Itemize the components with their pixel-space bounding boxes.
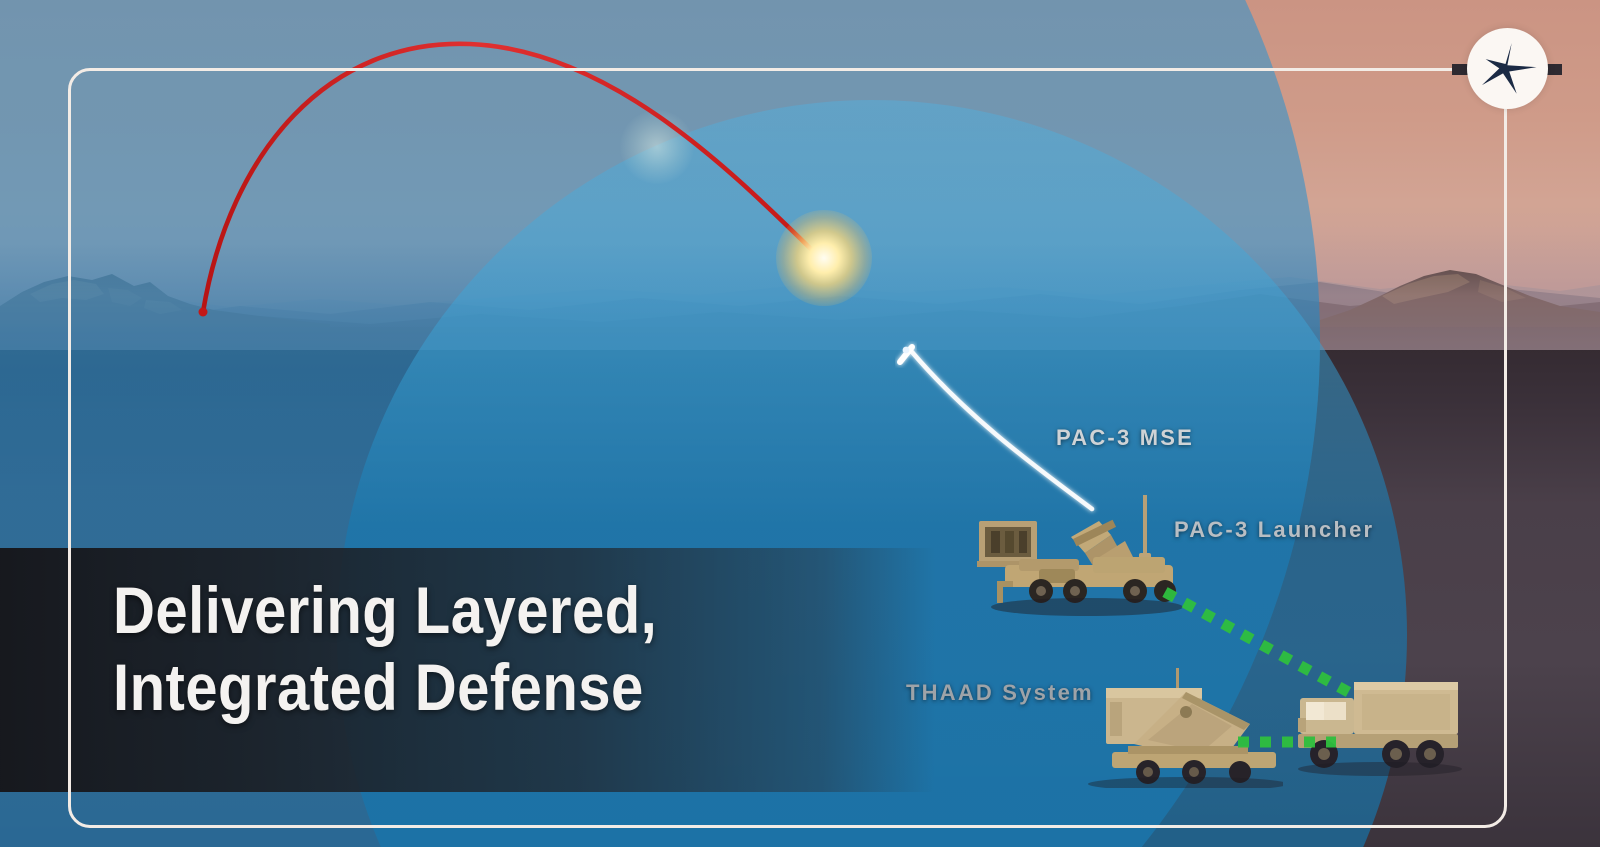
callout-label-thaad-system: THAAD System <box>906 680 1094 706</box>
callout-label-pac3-mse: PAC-3 MSE <box>1056 425 1194 451</box>
lens-flare <box>620 110 694 184</box>
thaad-radar-vehicle <box>1068 668 1283 788</box>
intercept-flash <box>776 210 872 306</box>
page-title: Delivering Layered, Integrated Defense <box>113 572 835 726</box>
c2-support-truck <box>1292 672 1467 782</box>
promo-graphic-canvas: Delivering Layered, Integrated Defense P… <box>0 0 1600 847</box>
lockheed-martin-star-icon <box>1467 28 1548 109</box>
pac3-launcher-vehicle <box>975 495 1195 620</box>
callout-label-pac3-launcher: PAC-3 Launcher <box>1174 517 1374 543</box>
